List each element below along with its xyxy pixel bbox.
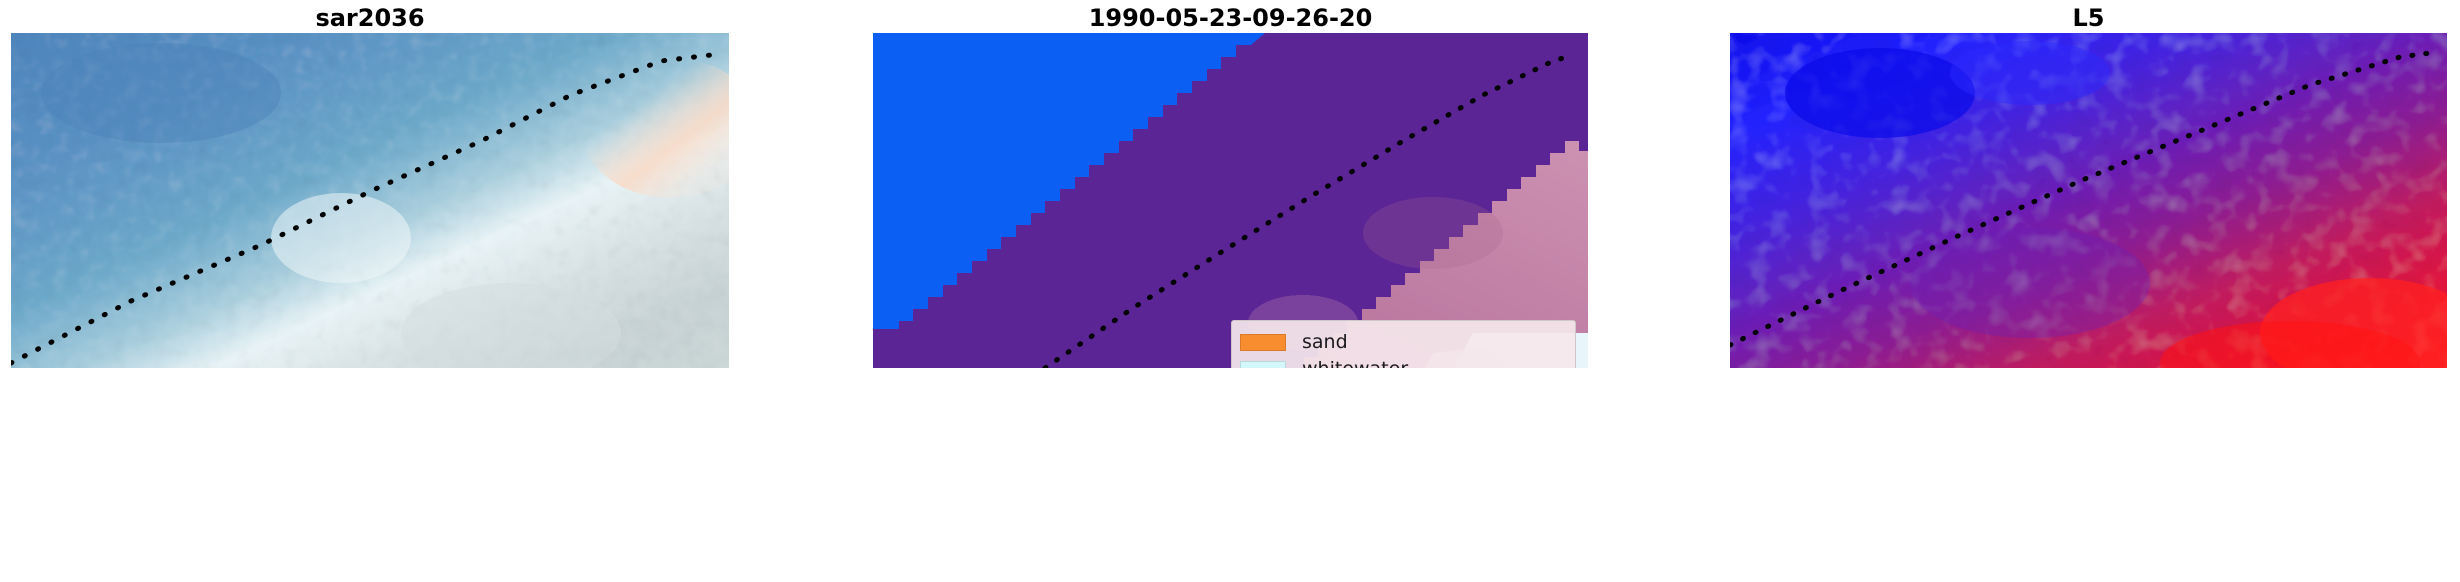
- index-raster: [1730, 33, 2447, 368]
- legend-label-whitewater: whitewater: [1302, 360, 1408, 368]
- legend-item-whitewater: whitewater: [1240, 356, 1565, 368]
- legend-label-sand: sand: [1302, 333, 1348, 352]
- figure-canvas: sar2036: [0, 0, 2460, 582]
- legend: sand whitewater water shoreline referenc…: [1231, 320, 1576, 368]
- sand-swatch-icon: [1240, 334, 1286, 351]
- panel-title-rgb: sar2036: [11, 6, 729, 30]
- panel-classified[interactable]: sand whitewater water shoreline referenc…: [873, 33, 1588, 368]
- panel-index[interactable]: [1730, 33, 2447, 368]
- legend-item-sand: sand: [1240, 329, 1565, 356]
- whitewater-swatch-icon: [1240, 361, 1286, 368]
- panel-title-index: L5: [1730, 6, 2447, 30]
- panel-title-classified: 1990-05-23-09-26-20: [873, 6, 1588, 30]
- panel-rgb[interactable]: [11, 33, 729, 368]
- rgb-raster: [11, 33, 729, 368]
- classified-raster: [873, 33, 1588, 368]
